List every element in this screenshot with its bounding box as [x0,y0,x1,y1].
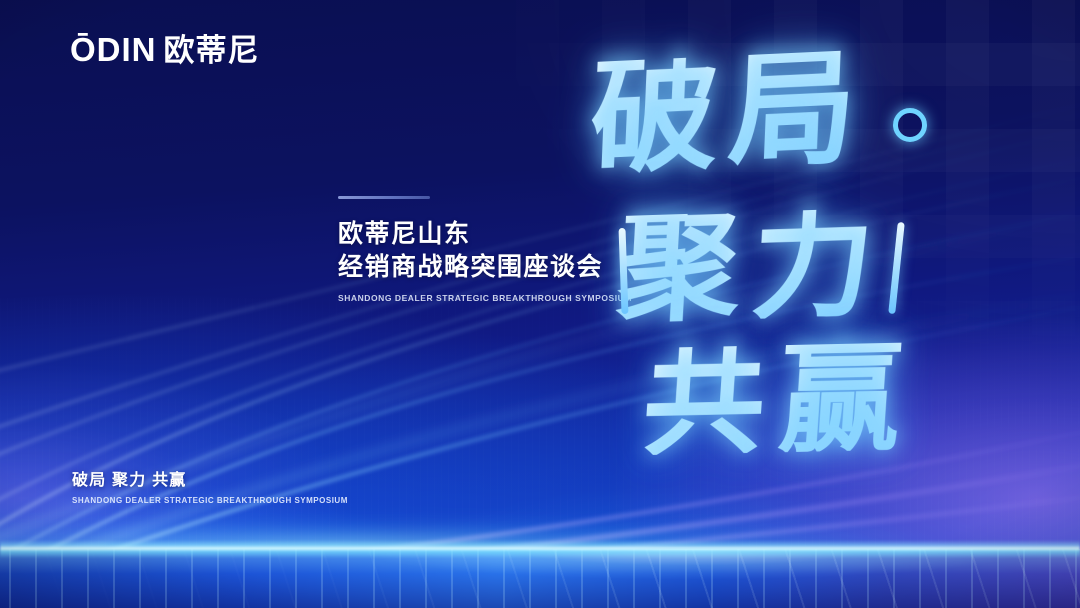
footer-tagline-en: SHANDONG DEALER STRATEGIC BREAKTHROUGH S… [72,496,348,505]
brand-logo: ŌDIN 欧蒂尼 [70,33,260,66]
brand-logo-latin: ŌDIN [70,33,157,66]
slogan-calligraphy: 破局 聚力 共赢 [575,48,1045,468]
event-backdrop-poster: ŌDIN 欧蒂尼 欧蒂尼山东 经销商战略突围座谈会 SHANDONG DEALE… [0,0,1080,608]
slogan-row-2: 聚力 [615,208,889,324]
slogan-row-1: 破局 [588,49,868,174]
brand-logo-chinese: 欧蒂尼 [164,35,260,66]
circle-ring-accent-icon [893,108,927,142]
footer-tagline-cn: 破局 聚力 共赢 [72,466,348,490]
slogan-row-3: 共赢 [640,342,919,455]
horizontal-rule-icon [338,196,430,199]
footer-tagline: 破局 聚力 共赢 SHANDONG DEALER STRATEGIC BREAK… [72,466,348,505]
